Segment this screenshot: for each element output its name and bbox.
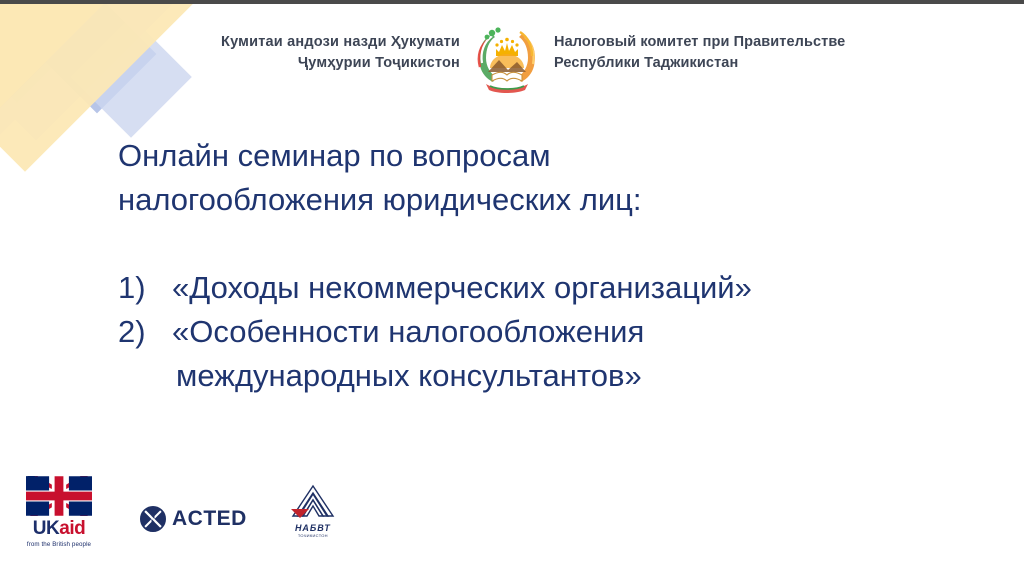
header-tajik-organization-name: Кумитаи андози назди Ҳукумати Ҷумҳурии Т… bbox=[160, 18, 460, 73]
page-title: Онлайн семинар по вопросам налогообложен… bbox=[118, 134, 968, 222]
nabwt-subtext: ТОЧИКИСТОН bbox=[298, 534, 328, 538]
nabwt-logo: НАБВТ ТОЧИКИСТОН bbox=[287, 482, 339, 538]
mountain-triangles-icon bbox=[287, 482, 339, 522]
acted-wordmark: ACTED bbox=[172, 507, 247, 531]
uk-aid-tagline: from the British people bbox=[27, 541, 91, 548]
top-edge-band bbox=[0, 0, 1024, 4]
uk-aid-wordmark: UKaid bbox=[33, 519, 85, 538]
list-item: 1) «Доходы некоммерческих организаций» bbox=[118, 266, 968, 310]
presentation-slide: Кумитаи андози назди Ҳукумати Ҷумҳурии Т… bbox=[0, 0, 1024, 578]
header-russian-organization-name: Налоговый комитет при Правительстве Респ… bbox=[554, 18, 864, 73]
slide-content: Онлайн семинар по вопросам налогообложен… bbox=[118, 134, 968, 398]
list-item-number: 1) bbox=[118, 266, 176, 310]
tajikistan-state-emblem-icon bbox=[468, 18, 546, 98]
uk-aid-word-aid: aid bbox=[59, 518, 85, 539]
list-item-label: «Доходы некоммерческих организаций» bbox=[176, 266, 968, 310]
sponsor-logos: UKaid from the British people ACTED bbox=[26, 468, 339, 560]
union-jack-flag-icon bbox=[26, 476, 92, 516]
uk-aid-word-uk: UK bbox=[33, 518, 59, 539]
list-item: 2) «Особенности налогообложения междунар… bbox=[118, 310, 968, 398]
agenda-list: 1) «Доходы некоммерческих организаций» 2… bbox=[118, 266, 968, 398]
nabwt-wordmark: НАБВТ bbox=[295, 524, 331, 533]
slide-header: Кумитаи андози назди Ҳукумати Ҷумҳурии Т… bbox=[0, 18, 1024, 96]
acted-logo: ACTED bbox=[140, 506, 247, 532]
acted-circle-cross-icon bbox=[140, 506, 166, 532]
list-item-label: «Особенности налогообложения международн… bbox=[176, 310, 968, 398]
uk-aid-logo: UKaid from the British people bbox=[26, 476, 92, 548]
list-item-number: 2) bbox=[118, 310, 176, 354]
